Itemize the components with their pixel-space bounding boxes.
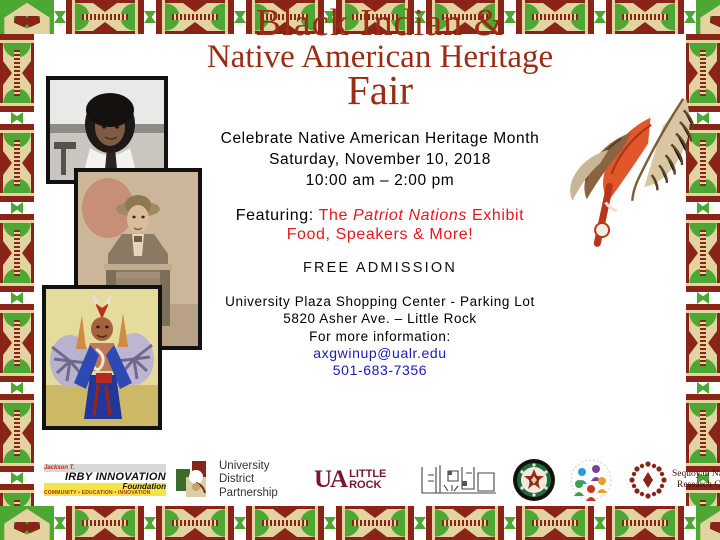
subtitle-line: Celebrate Native American Heritage Month — [160, 130, 600, 148]
logo-architectural-blueprint — [418, 457, 502, 503]
border-tile — [0, 214, 34, 292]
border-tile — [516, 506, 594, 540]
border-tile — [0, 34, 34, 112]
border-link — [686, 202, 720, 214]
ualr-wordmark: LITTLE ROCK — [349, 469, 386, 492]
border-tile — [0, 394, 34, 472]
border-link — [684, 0, 696, 34]
event-details: Celebrate Native American Heritage Month… — [160, 130, 600, 380]
border-link — [414, 506, 426, 540]
border-tile — [156, 506, 234, 540]
logo-irby-innovation-foundation: Jackson T. IRBY INNOVATION Foundation CO… — [44, 457, 166, 503]
border-link — [54, 0, 66, 34]
border-tile — [0, 124, 34, 202]
border-corner-motif — [0, 0, 54, 34]
border-link — [0, 472, 34, 484]
contact-label: For more information: — [160, 328, 600, 345]
snrc-line-2: Research Center — [672, 480, 720, 491]
border-corner-motif — [696, 0, 720, 34]
exhibit-name: Patriot Nations — [353, 207, 467, 224]
border-link — [686, 112, 720, 124]
snrc-text: Sequoyah National Research Center — [672, 469, 720, 492]
border-link — [504, 506, 516, 540]
irby-tagline: COMMUNITY • EDUCATION • INNOVATION — [44, 491, 166, 496]
exhibit-suffix: Exhibit — [472, 207, 524, 224]
border-link — [54, 506, 66, 540]
admission-notice: FREE ADMISSION — [160, 260, 600, 276]
contact-phone[interactable]: 501-683-7356 — [160, 362, 600, 380]
sponsor-logo-strip: Jackson T. IRBY INNOVATION Foundation CO… — [44, 456, 674, 504]
event-flyer: Black Indian & Native American Heritage … — [0, 0, 720, 540]
udp-line-1: University — [219, 460, 278, 473]
snrc-starburst-icon — [628, 460, 668, 500]
border-link — [594, 506, 606, 540]
border-link — [684, 506, 696, 540]
border-tile — [686, 214, 720, 292]
event-date: Saturday, November 10, 2018 — [160, 151, 600, 169]
featuring-line: Featuring: The Patriot Nations Exhibit — [160, 207, 600, 225]
contact-email[interactable]: axgwinup@ualr.edu — [160, 345, 600, 363]
border-link — [686, 382, 720, 394]
title-line-3: Fair — [150, 70, 610, 112]
border-link — [0, 202, 34, 214]
udp-line-2: District — [219, 473, 278, 486]
border-link — [144, 506, 156, 540]
border-link — [0, 112, 34, 124]
border-tile — [426, 506, 504, 540]
udp-mark-icon — [176, 461, 214, 499]
logo-ua-little-rock: UA LITTLE ROCK — [314, 457, 408, 503]
border-link — [686, 292, 720, 304]
logo-university-district-partnership: University District Partnership — [176, 457, 304, 503]
title-block: Black Indian & Native American Heritage … — [150, 4, 610, 112]
snrc-line-1: Sequoyah National — [672, 469, 720, 480]
border-tile — [606, 506, 684, 540]
border-link — [324, 506, 336, 540]
border-tile — [0, 304, 34, 382]
venue-address: 5820 Asher Ave. – Little Rock — [160, 310, 600, 327]
border-link — [234, 506, 246, 540]
border-tile — [606, 0, 684, 34]
featuring-label: Featuring: — [236, 207, 314, 224]
border-tile — [66, 506, 144, 540]
venue-name: University Plaza Shopping Center - Parki… — [160, 293, 600, 310]
border-corner-motif — [0, 506, 54, 540]
border-tile — [686, 34, 720, 112]
border-tile — [686, 304, 720, 382]
border-tile — [686, 124, 720, 202]
border-tile — [336, 506, 414, 540]
photo-dancer-painting — [42, 285, 162, 430]
border-link — [0, 292, 34, 304]
ualr-line-2: ROCK — [349, 480, 386, 491]
border-link — [0, 382, 34, 394]
border-tile — [0, 484, 34, 506]
udp-line-3: Partnership — [219, 487, 278, 500]
logo-tribal-nation-seal — [512, 457, 558, 503]
udp-text: University District Partnership — [219, 460, 278, 499]
logo-community-people-circle — [568, 457, 618, 503]
event-time: 10:00 am – 2:00 pm — [160, 172, 600, 190]
border-bottom — [0, 506, 720, 540]
border-left — [0, 34, 34, 506]
title-line-1: Black Indian & — [150, 4, 610, 43]
featuring-line-2: Food, Speakers & More! — [160, 226, 600, 244]
featuring-the: The — [319, 207, 348, 224]
logo-sequoyah-national-research-center: Sequoyah National Research Center — [628, 457, 720, 503]
border-corner-motif — [696, 506, 720, 540]
border-tile — [66, 0, 144, 34]
border-tile — [246, 506, 324, 540]
border-right — [686, 34, 720, 506]
ualr-monogram: UA — [314, 466, 346, 494]
